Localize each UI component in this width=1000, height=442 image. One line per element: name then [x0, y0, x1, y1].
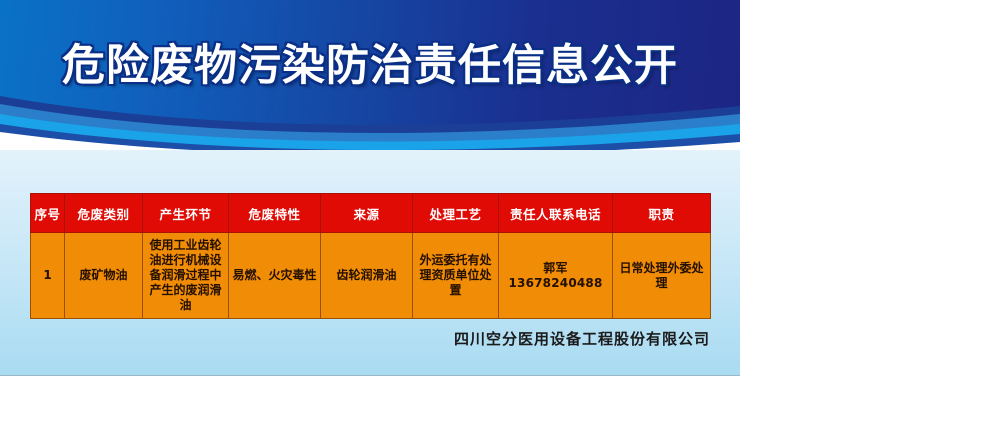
cell-responsible: 郭军 13678240488	[499, 233, 613, 319]
header-banner: 危险废物污染防治责任信息公开	[0, 0, 740, 150]
column-header-duty: 职责	[613, 194, 711, 233]
column-header-seq: 序号	[31, 194, 65, 233]
cell-seq: 1	[31, 233, 65, 319]
banner-title-text: 危险废物污染防治责任信息公开	[62, 31, 678, 93]
column-header-category: 危废类别	[65, 194, 143, 233]
cell-category: 废矿物油	[65, 233, 143, 319]
cell-stage: 使用工业齿轮油进行机械设备润滑过程中产生的废润滑油	[143, 233, 229, 319]
information-board: 危险废物污染防治责任信息公开 序号 危废类别 产生环节 危废特性 来源 处理	[0, 0, 740, 375]
poster-canvas: 危险废物污染防治责任信息公开 序号 危废类别 产生环节 危废特性 来源 处理	[0, 0, 1000, 442]
cell-source: 齿轮润滑油	[321, 233, 413, 319]
banner-title: 危险废物污染防治责任信息公开	[0, 0, 740, 150]
cell-duty: 日常处理外委处理	[613, 233, 711, 319]
column-header-treatment: 处理工艺	[413, 194, 499, 233]
column-header-property: 危废特性	[229, 194, 321, 233]
table-row: 1 废矿物油 使用工业齿轮油进行机械设备润滑过程中产生的废润滑油 易燃、火灾毒性…	[31, 233, 711, 319]
column-header-source: 来源	[321, 194, 413, 233]
company-name: 四川空分医用设备工程股份有限公司	[0, 328, 710, 349]
column-header-stage: 产生环节	[143, 194, 229, 233]
column-header-phone: 责任人联系电话	[499, 194, 613, 233]
table-header-row: 序号 危废类别 产生环节 危废特性 来源 处理工艺 责任人联系电话 职责	[31, 194, 711, 233]
responsible-person-phone: 13678240488	[502, 276, 609, 291]
hazardous-waste-table: 序号 危废类别 产生环节 危废特性 来源 处理工艺 责任人联系电话 职责 1 废…	[30, 193, 711, 319]
responsible-person-name: 郭军	[502, 261, 609, 276]
cell-treatment: 外运委托有处理资质单位处置	[413, 233, 499, 319]
hazardous-waste-table-container: 序号 危废类别 产生环节 危废特性 来源 处理工艺 责任人联系电话 职责 1 废…	[30, 193, 710, 319]
cell-property: 易燃、火灾毒性	[229, 233, 321, 319]
